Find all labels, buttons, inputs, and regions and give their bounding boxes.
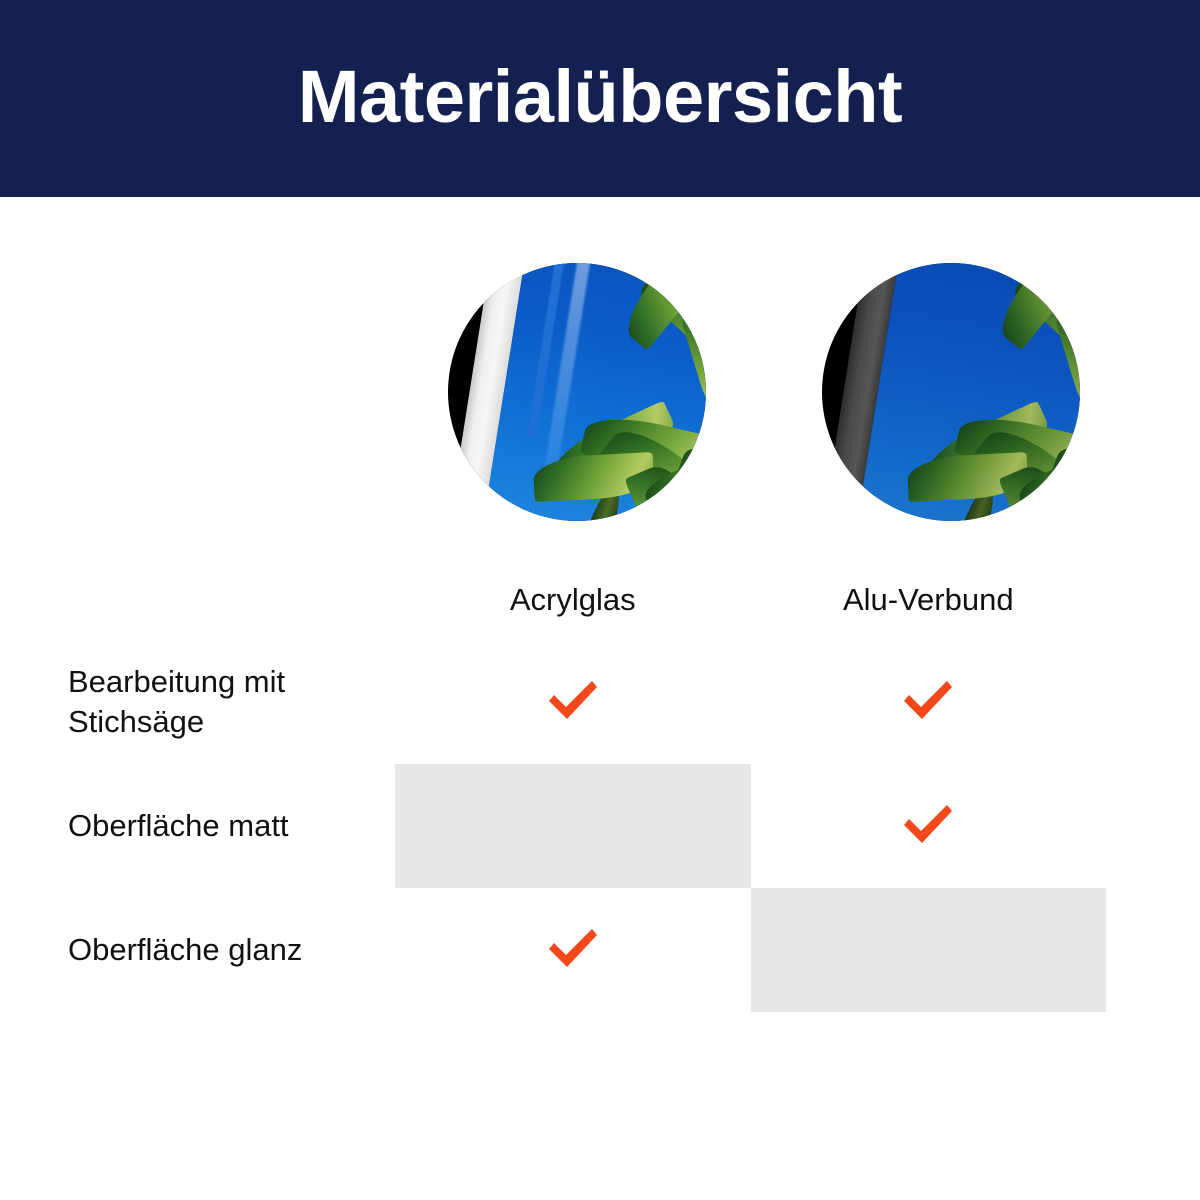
alu-verbund-sample-image [822,263,1080,521]
cell-glanz-alu-verbund [751,888,1107,1012]
cell-bearbeitung-acrylglas [395,640,751,764]
column-header-acrylglas: Acrylglas [395,560,751,640]
alu-verbund-panel [822,263,1080,521]
table-header-row: Acrylglas Alu-Verbund [68,560,1106,640]
cell-bearbeitung-alu-verbund [751,640,1107,764]
material-comparison-table: Acrylglas Alu-Verbund Bearbeitung mit St… [68,560,1106,1012]
table-row: Oberfläche glanz [68,888,1106,1012]
check-icon [545,925,601,971]
material-overview-page: Materialübersicht [0,0,1200,1200]
check-icon [900,677,956,723]
page-title: Materialübersicht [298,60,902,134]
table-row: Bearbeitung mit Stichsäge [68,640,1106,764]
header-banner: Materialübersicht [0,0,1200,197]
check-icon [545,677,601,723]
sample-images-row [0,263,1200,523]
row-label-line: Stichsäge [68,704,204,739]
row-label-oberflaeche-matt: Oberfläche matt [68,764,395,888]
row-label-bearbeitung: Bearbeitung mit Stichsäge [68,640,395,764]
row-label-oberflaeche-glanz: Oberfläche glanz [68,888,395,1012]
table-row: Oberfläche matt [68,764,1106,888]
table-corner-cell [68,560,395,640]
column-header-alu-verbund: Alu-Verbund [751,560,1107,640]
check-icon [900,801,956,847]
cell-matt-acrylglas [395,764,751,888]
row-label-line: Oberfläche matt [68,808,289,843]
acrylglas-sample-image [448,263,706,521]
row-label-line: Bearbeitung mit [68,664,285,699]
cell-glanz-acrylglas [395,888,751,1012]
row-label-line: Oberfläche glanz [68,932,302,967]
acrylglas-panel [448,263,706,521]
cell-matt-alu-verbund [751,764,1107,888]
